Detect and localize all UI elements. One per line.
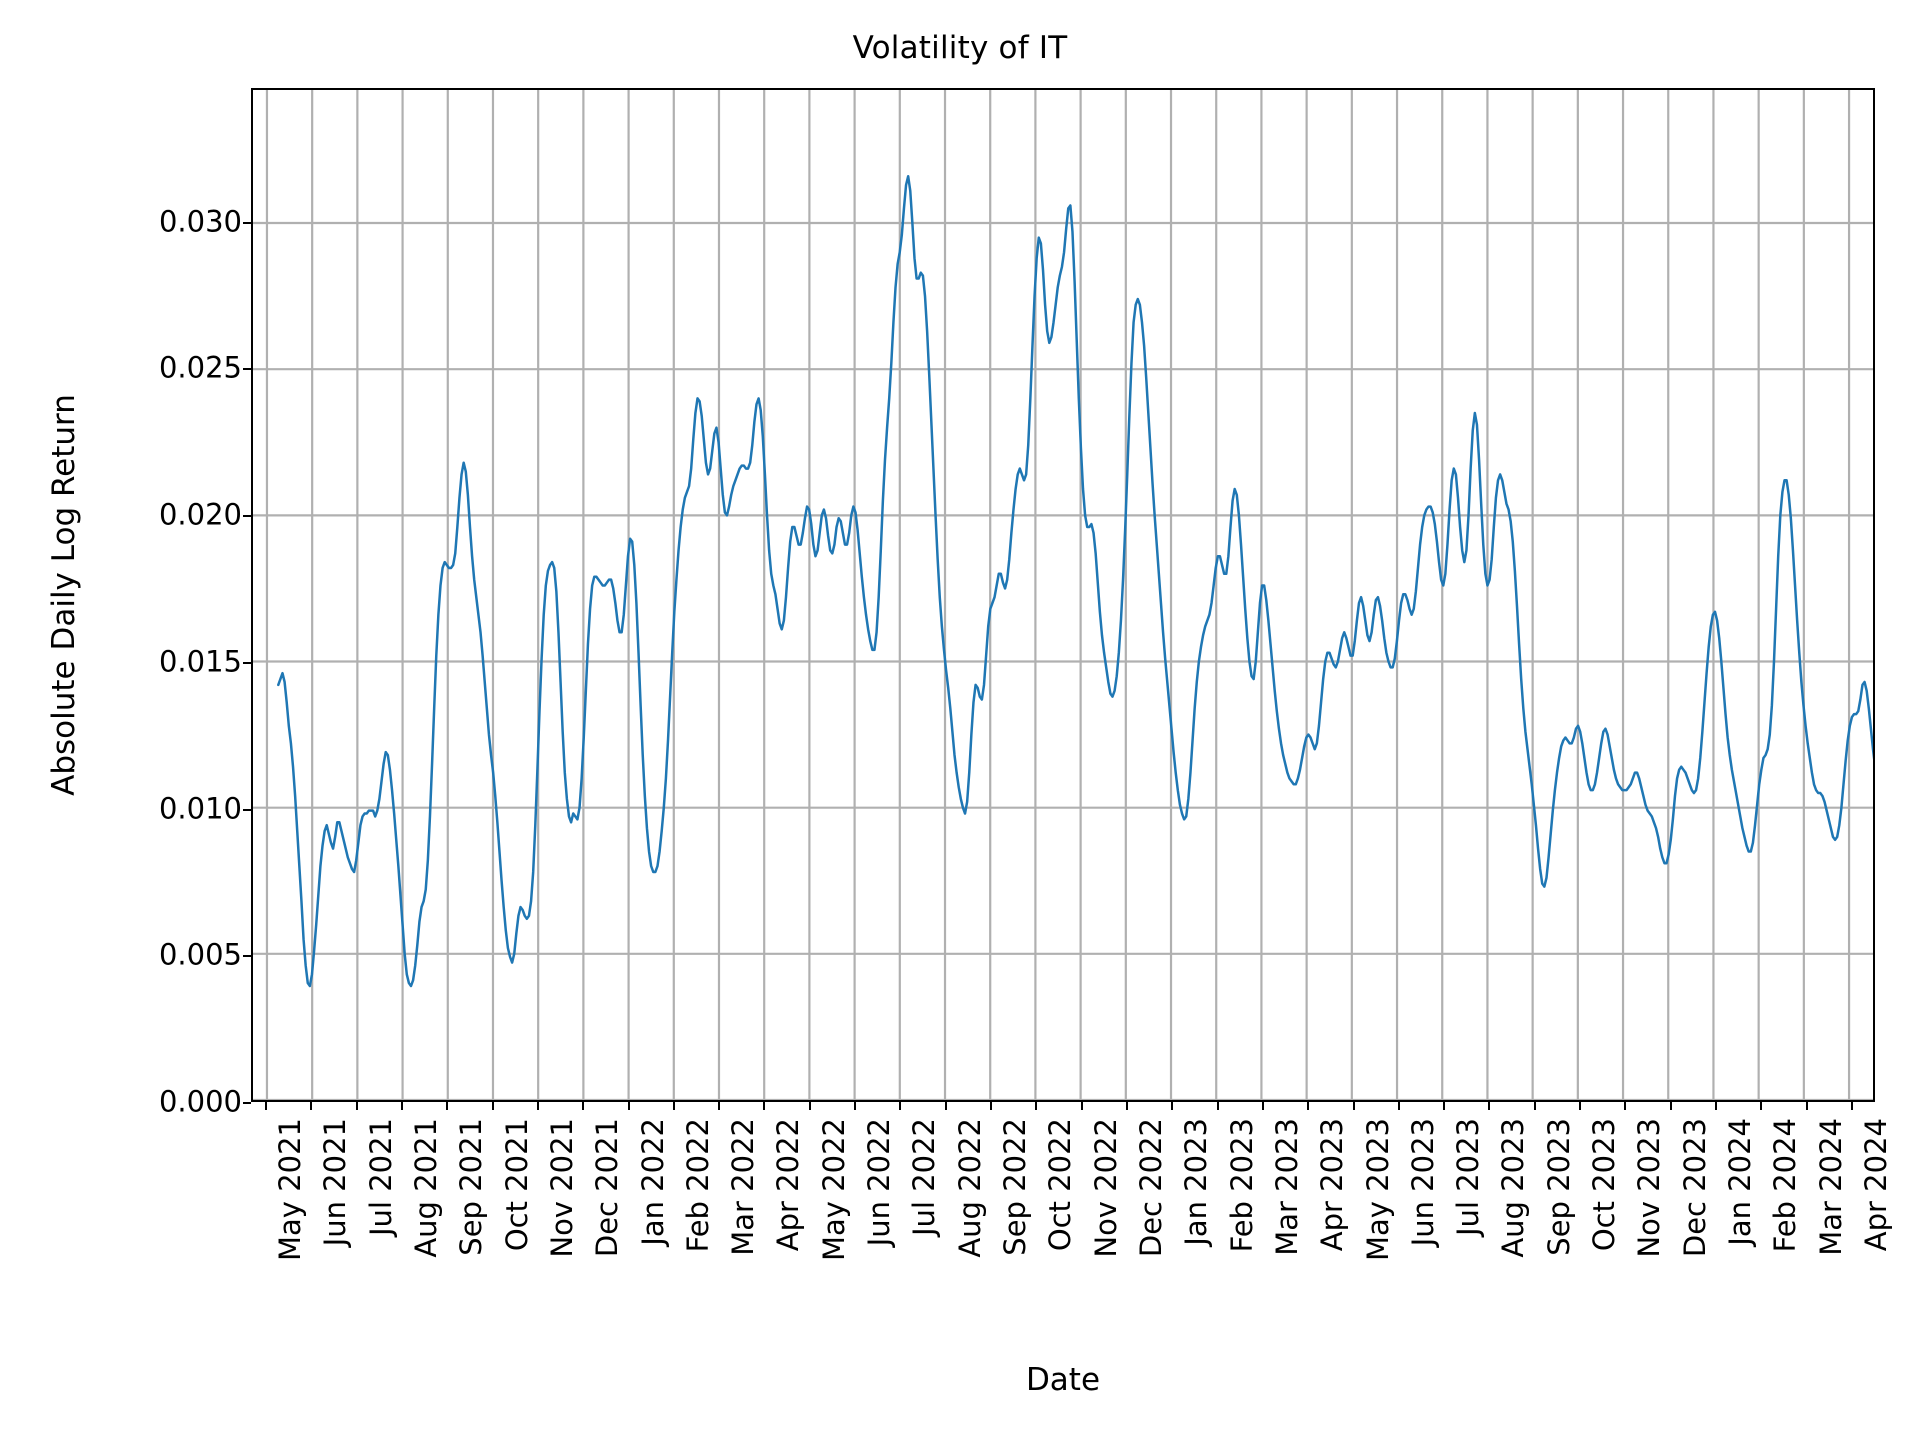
x-axis-tick-mark [854,1102,856,1110]
y-axis-tick-label: 0.015 [159,647,242,676]
x-axis-tick-label: Sep 2021 [457,1118,486,1256]
y-axis-tick-label: 0.025 [159,354,242,383]
x-axis-tick-label: Aug 2022 [956,1118,985,1258]
y-axis-tick-label: 0.030 [159,207,242,236]
x-axis-tick-mark [1443,1102,1445,1110]
x-axis-tick-label: Nov 2023 [1635,1118,1664,1258]
x-axis-tick-mark [1760,1102,1762,1110]
y-axis-tick-mark [243,515,251,517]
x-axis-tick-label: Mar 2023 [1273,1118,1302,1256]
y-axis-tick-label: 0.005 [159,941,242,970]
x-axis-tick-label: Oct 2023 [1590,1118,1619,1251]
x-axis-tick-label: Apr 2022 [774,1118,803,1251]
x-axis-tick-mark [1126,1102,1128,1110]
x-axis-tick-mark [310,1102,312,1110]
x-axis-tick-label: Oct 2021 [503,1118,532,1251]
plot-area [251,88,1875,1102]
x-axis-tick-mark [492,1102,494,1110]
x-axis-tick-mark [1262,1102,1264,1110]
y-axis-tick-mark [243,662,251,664]
x-axis-tick-mark [673,1102,675,1110]
x-axis-tick-mark [1171,1102,1173,1110]
x-axis-tick-mark [265,1102,267,1110]
x-axis-tick-mark [1851,1102,1853,1110]
y-axis-tick-label: 0.020 [159,501,242,530]
x-axis-tick-mark [1534,1102,1536,1110]
x-axis-tick-label: Jun 2022 [865,1118,894,1246]
figure-canvas: Volatility of IT Absolute Daily Log Retu… [0,0,1920,1440]
x-axis-tick-mark [763,1102,765,1110]
x-axis-tick-label: Jun 2023 [1409,1118,1438,1246]
x-axis-tick-label: Jan 2023 [1182,1118,1211,1246]
x-axis-tick-label: Aug 2021 [412,1118,441,1258]
x-axis-tick-mark [718,1102,720,1110]
x-axis-tick-label: Dec 2023 [1681,1118,1710,1257]
x-axis-tick-mark [537,1102,539,1110]
x-axis-tick-label: May 2021 [276,1118,305,1261]
x-axis-tick-label: Mar 2022 [729,1118,758,1256]
chart-title: Volatility of IT [0,30,1920,66]
x-axis-tick-mark [446,1102,448,1110]
x-axis-tick-mark [1035,1102,1037,1110]
x-axis-tick-mark [990,1102,992,1110]
y-axis-tick-mark [243,1102,251,1104]
x-axis-title: Date [251,1362,1875,1398]
y-axis-tick-label: 0.010 [159,794,242,823]
data-line-series [253,90,1873,1100]
x-axis-tick-label: Jan 2022 [639,1118,668,1246]
x-axis-tick-label: Jun 2021 [321,1118,350,1246]
x-axis-tick-label: Apr 2023 [1318,1118,1347,1251]
x-axis-tick-mark [628,1102,630,1110]
x-axis-tick-mark [401,1102,403,1110]
x-axis-tick-label: Mar 2024 [1817,1118,1846,1256]
x-axis-tick-label: Jul 2023 [1454,1118,1483,1236]
x-axis-tick-label: Nov 2022 [1092,1118,1121,1258]
x-axis-tick-label: Oct 2022 [1046,1118,1075,1251]
x-axis-tick-label: May 2022 [820,1118,849,1261]
x-axis-tick-mark [899,1102,901,1110]
x-axis-tick-mark [356,1102,358,1110]
x-axis-tick-mark [1353,1102,1355,1110]
x-axis-tick-mark [945,1102,947,1110]
x-axis-tick-mark [1715,1102,1717,1110]
x-axis-tick-label: Apr 2024 [1862,1118,1891,1251]
y-axis-tick-mark [243,368,251,370]
y-axis-tick-mark [243,955,251,957]
x-axis-tick-mark [1624,1102,1626,1110]
x-axis-tick-label: Jul 2021 [367,1118,396,1236]
x-axis-tick-label: Feb 2024 [1771,1118,1800,1252]
x-axis-tick-label: Aug 2023 [1499,1118,1528,1258]
x-axis-tick-label: Sep 2023 [1545,1118,1574,1256]
x-axis-tick-mark [1081,1102,1083,1110]
x-axis-tick-mark [1307,1102,1309,1110]
x-axis-tick-mark [1217,1102,1219,1110]
x-axis-tick-mark [582,1102,584,1110]
x-axis-tick-label: Jul 2022 [910,1118,939,1236]
x-axis-tick-label: Feb 2023 [1228,1118,1257,1252]
x-axis-tick-label: Dec 2021 [593,1118,622,1257]
x-axis-tick-label: Nov 2021 [548,1118,577,1258]
y-axis-tick-mark [243,222,251,224]
x-axis-tick-label: Dec 2022 [1137,1118,1166,1257]
y-axis-tick-mark [243,809,251,811]
x-axis-tick-label: Sep 2022 [1001,1118,1030,1256]
x-axis-tick-mark [809,1102,811,1110]
x-axis-tick-label: Jan 2024 [1726,1118,1755,1246]
y-axis-title: Absolute Daily Log Return [36,88,92,1102]
y-axis-tick-label: 0.000 [159,1088,242,1117]
x-axis-tick-label: Feb 2022 [684,1118,713,1252]
x-axis-tick-mark [1670,1102,1672,1110]
x-axis-tick-label: May 2023 [1364,1118,1393,1261]
x-axis-tick-mark [1488,1102,1490,1110]
x-axis-tick-mark [1579,1102,1581,1110]
x-axis-tick-mark [1398,1102,1400,1110]
x-axis-tick-mark [1806,1102,1808,1110]
